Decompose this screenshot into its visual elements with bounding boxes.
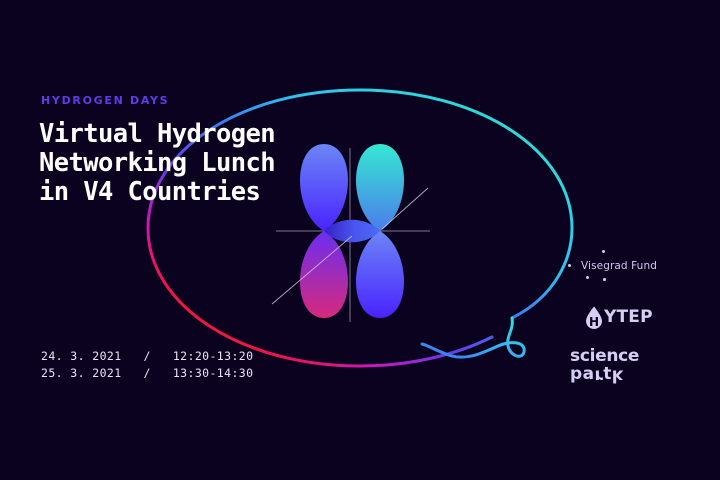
schedule-row: 25. 3. 2021 / 13:30-14:30	[41, 365, 253, 382]
schedule-time: 12:20-13:20	[173, 348, 254, 365]
schedule-date: 24. 3. 2021	[41, 348, 122, 365]
logo-visegrad-fund: Visegrad Fund	[564, 246, 696, 292]
visegrad-dot-icon	[602, 250, 605, 253]
water-droplet-icon: H	[583, 305, 605, 330]
science-park-line-2: partk	[570, 366, 696, 384]
visegrad-dot-icon	[568, 264, 571, 267]
schedule-separator: /	[144, 365, 151, 382]
poster-canvas: HYDROGEN DAYS Virtual Hydrogen Networkin…	[0, 0, 720, 480]
schedule-block: 24. 3. 2021 / 12:20-13:20 25. 3. 2021 / …	[41, 348, 253, 382]
eyebrow-label: HYDROGEN DAYS	[41, 94, 169, 107]
schedule-date: 25. 3. 2021	[41, 365, 122, 382]
orbital-lobe-bottom-right	[356, 231, 404, 318]
title-line-2: Networking Lunch	[39, 149, 329, 178]
science-park-r: r	[594, 366, 603, 384]
schedule-row: 24. 3. 2021 / 12:20-13:20	[41, 348, 253, 365]
visegrad-dot-icon	[586, 276, 589, 279]
title-line-1: Virtual Hydrogen	[39, 120, 329, 149]
logo-hytep: H YTEP	[583, 304, 696, 330]
visegrad-dot-icon	[603, 278, 606, 281]
schedule-time: 13:30-14:30	[173, 365, 254, 382]
schedule-separator: /	[144, 348, 151, 365]
logo-science-park: science partk	[570, 348, 696, 383]
science-park-pa: pa	[570, 364, 594, 384]
science-park-t: t	[603, 364, 612, 384]
sponsor-logos: Visegrad Fund H YTEP science partk	[564, 246, 696, 383]
visegrad-fund-label: Visegrad Fund	[581, 260, 657, 272]
science-park-k: k	[612, 366, 624, 384]
title-line-3: in V4 Countries	[39, 178, 329, 207]
hytep-label: YTEP	[604, 307, 653, 327]
svg-text:H: H	[589, 315, 599, 329]
orbital-lobe-top-right	[356, 144, 404, 231]
page-title: Virtual Hydrogen Networking Lunch in V4 …	[39, 120, 329, 207]
